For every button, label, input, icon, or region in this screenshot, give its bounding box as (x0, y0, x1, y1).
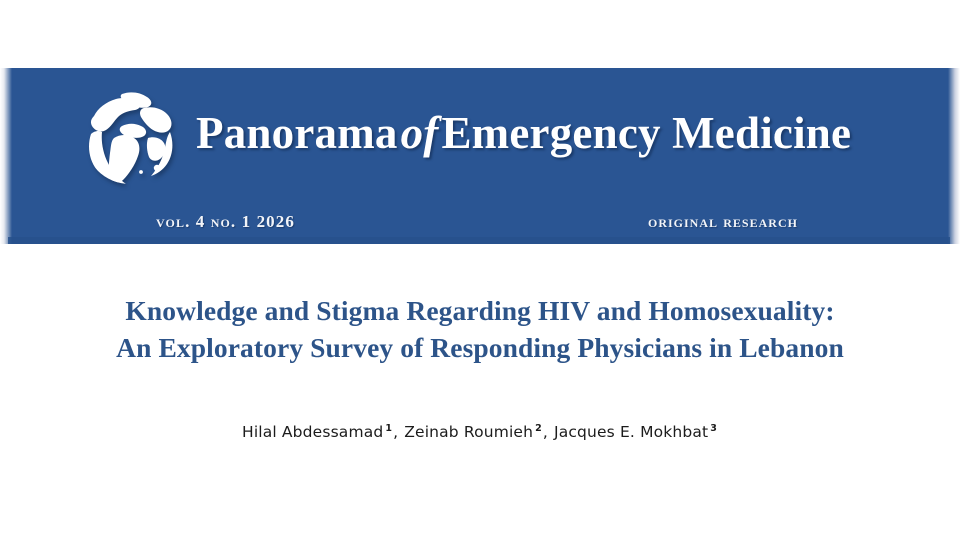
globe-icon (78, 86, 182, 190)
journal-title: PanoramaofEmergency Medicine (196, 102, 851, 164)
issue-line: Vol. 4 No. 1 2026 (156, 212, 295, 232)
author-affiliation-marker: 3 (708, 423, 718, 434)
author-name: Jacques E. Mokhbat (554, 423, 708, 441)
author-affiliation-marker: 1 (383, 423, 393, 434)
author-separator: , (543, 423, 549, 441)
author-name: Hilal Abdessamad (242, 423, 383, 441)
author-entry: Zeinab Roumieh2, (404, 423, 549, 441)
author-entry: Hilal Abdessamad1, (242, 423, 399, 441)
author-entry: Jacques E. Mokhbat3 (554, 423, 718, 441)
article-title: Knowledge and Stigma Regarding HIV and H… (0, 292, 960, 366)
author-separator: , (393, 423, 399, 441)
journal-title-part1: Panorama (196, 108, 398, 158)
journal-logo (78, 86, 182, 190)
article-title-line-1: Knowledge and Stigma Regarding HIV and H… (0, 292, 960, 329)
journal-title-connector: of (398, 108, 442, 158)
author-list: Hilal Abdessamad1, Zeinab Roumieh2, Jacq… (0, 423, 960, 441)
author-name: Zeinab Roumieh (404, 423, 533, 441)
masthead-bottom-strip (8, 237, 950, 244)
journal-title-part2: Emergency Medicine (441, 108, 851, 158)
article-title-line-2: An Exploratory Survey of Responding Phys… (0, 329, 960, 366)
author-affiliation-marker: 2 (533, 423, 543, 434)
section-label: Original Research (648, 212, 798, 232)
